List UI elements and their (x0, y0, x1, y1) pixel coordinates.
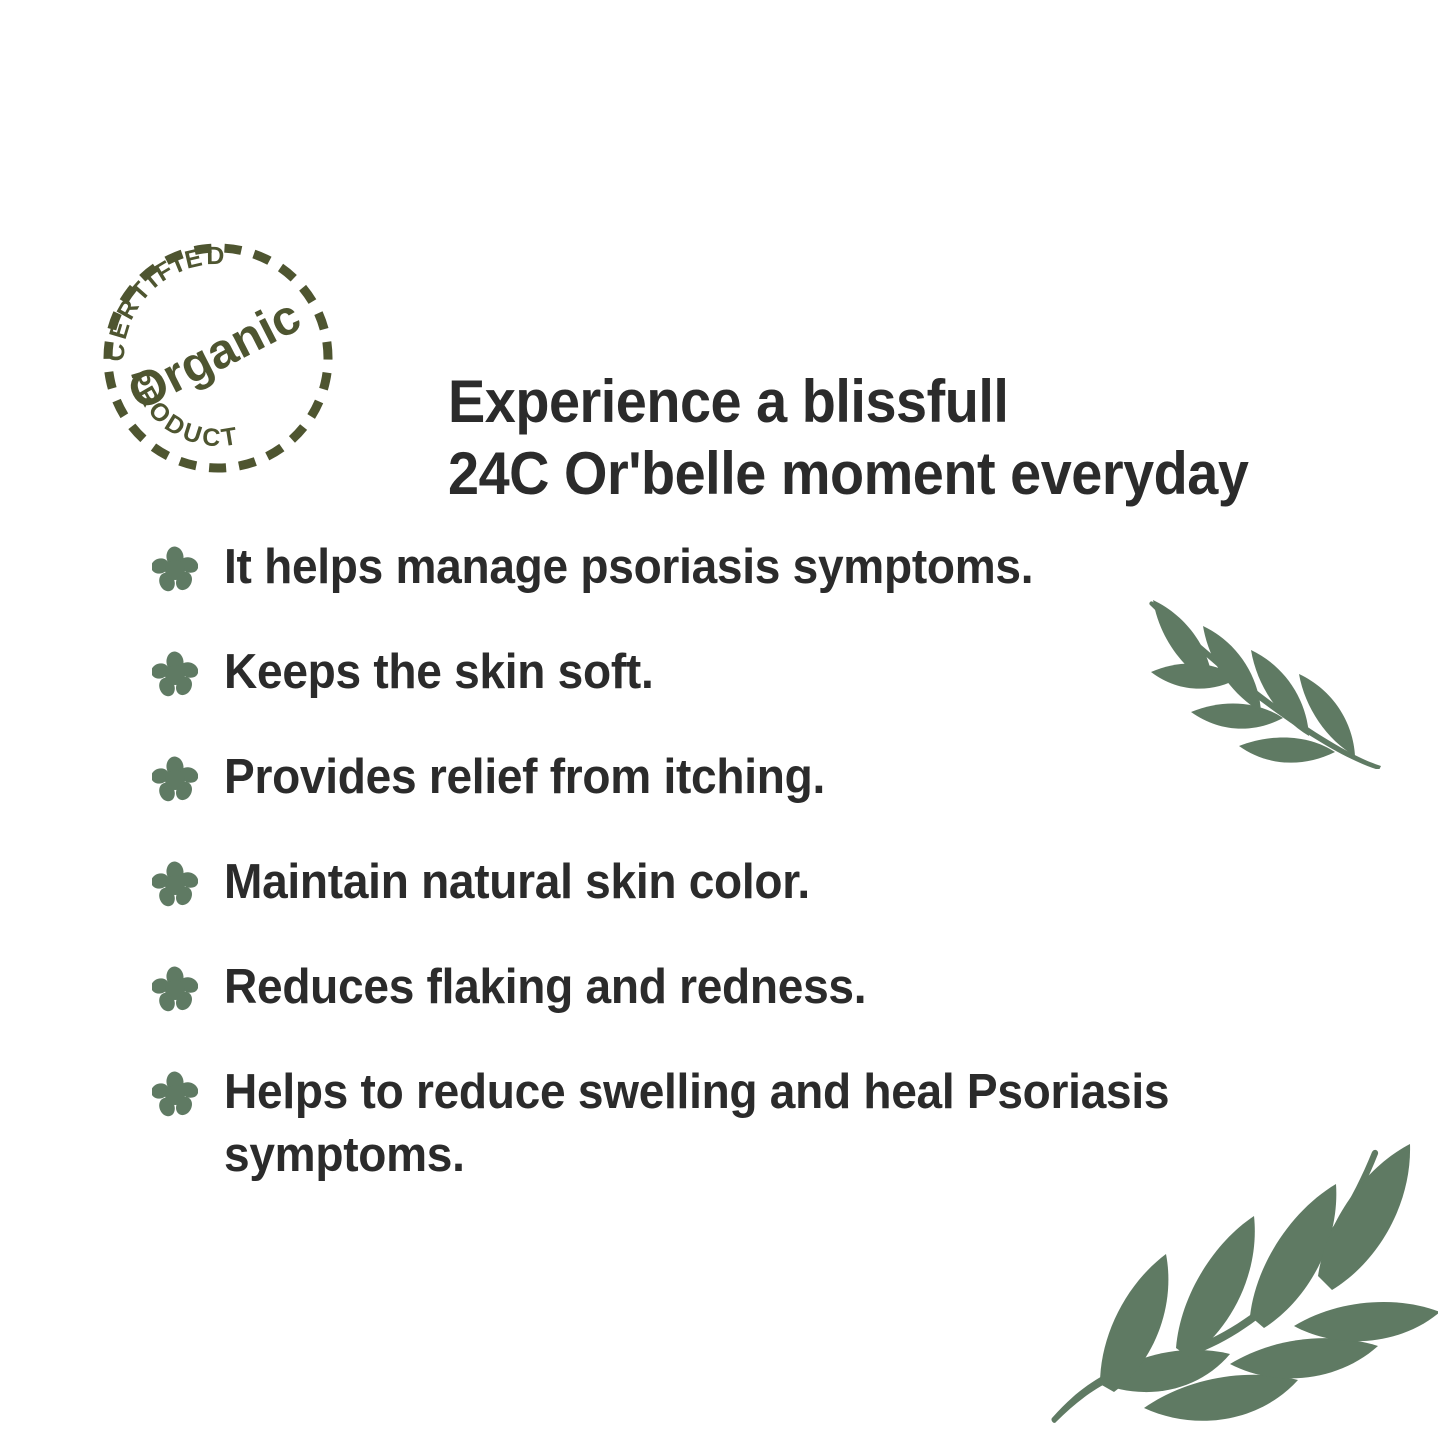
stamp-center-text: Organic (120, 289, 310, 421)
flower-bullet-icon (152, 651, 198, 697)
flower-bullet-icon (152, 861, 198, 907)
leaf-branch-top-right-icon (1143, 594, 1388, 769)
flower-bullet-icon (152, 966, 198, 1012)
certified-organic-stamp: CERTIFIED PRODUCT Organic (98, 238, 338, 478)
list-item-label: It helps manage psoriasis symptoms. (224, 536, 1313, 599)
page-title-line-1: Experience a blissfull (448, 366, 1332, 438)
list-item-label: Maintain natural skin color. (224, 851, 1313, 914)
promo-graphic-canvas: CERTIFIED PRODUCT Organic Experience a b… (0, 0, 1445, 1445)
list-item: Reduces flaking and redness. (152, 956, 1382, 1061)
flower-bullet-icon (152, 546, 198, 592)
list-item-label: Reduces flaking and redness. (224, 956, 1313, 1019)
list-item: Maintain natural skin color. (152, 851, 1382, 956)
leaf-branch-bottom-right-icon (1048, 1140, 1438, 1440)
page-title-line-2: 24C Or'belle moment everyday (448, 438, 1332, 510)
page-title: Experience a blissfull 24C Or'belle mome… (448, 366, 1332, 510)
flower-bullet-icon (152, 1071, 198, 1117)
flower-bullet-icon (152, 756, 198, 802)
